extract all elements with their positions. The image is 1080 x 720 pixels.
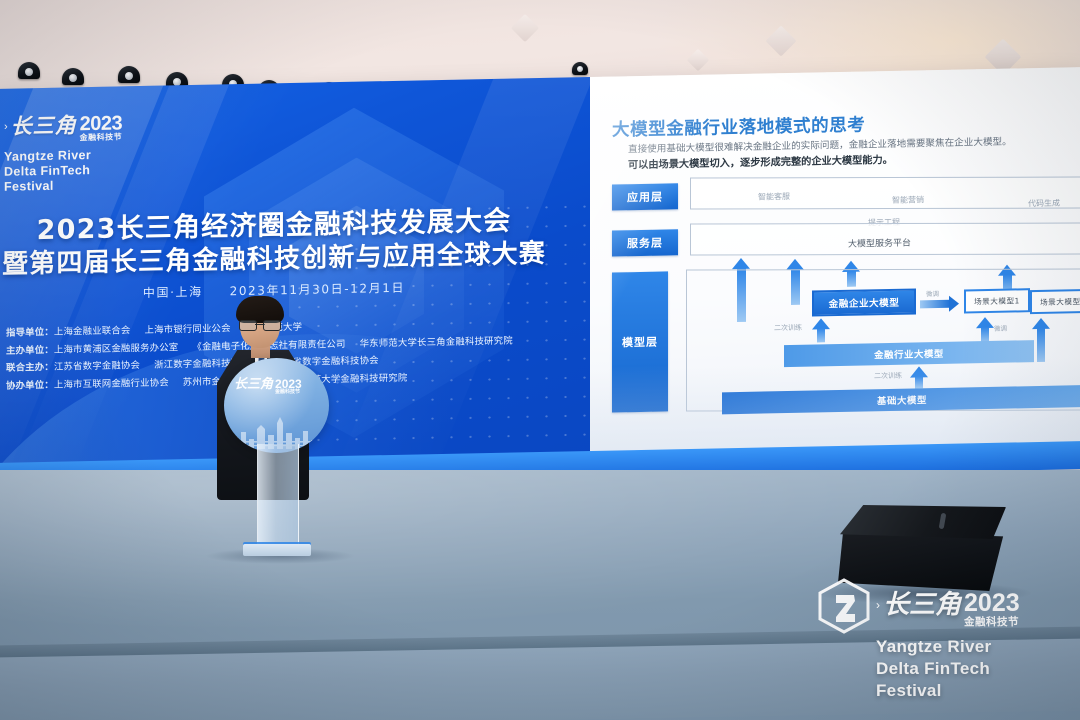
ceiling-sensor-icon — [572, 62, 588, 75]
layer-tag-service: 服务层 — [612, 229, 678, 256]
watermark-arrow-icon: › — [876, 592, 880, 618]
logo-arrow-icon: › — [4, 117, 8, 138]
app-item-label: 代码生成 — [1028, 198, 1060, 210]
watermark-text: › 长三角 2023 金融科技节 Yangtze River Delta Fin… — [876, 592, 1076, 702]
watermark-cn-sub: 金融科技节 — [964, 616, 1020, 630]
sponsor-value: 上海金融业联合会 — [54, 325, 131, 338]
monitor-top-face — [840, 505, 1006, 539]
layer-tag-application: 应用层 — [612, 183, 678, 210]
annotation-retrain: 二次训练 — [774, 323, 802, 334]
festival-mark-icon — [816, 578, 872, 634]
sponsor-value: 江苏省数字金融协会 — [54, 360, 140, 373]
podium-logo-cn: 长三角 — [234, 378, 273, 391]
stage-light-icon — [118, 66, 140, 83]
ceiling-diamond-panel — [511, 14, 539, 42]
up-arrow-shaft — [817, 328, 825, 342]
podium-logo: 长三角 2023 金融科技节 — [234, 378, 320, 396]
chip-enterprise-model: 金融企业大模型 — [812, 288, 916, 316]
watermark-en-line3: Festival — [876, 680, 1076, 702]
led-video-wall: › 长三角 2023 金融科技节 Yangtze River Delta Fin… — [0, 67, 1080, 481]
watermark-cn-name: 长三角 — [883, 592, 961, 618]
watermark-year: 2023 — [964, 592, 1020, 616]
sponsor-key: 协办单位： — [6, 380, 54, 392]
logo-cn-name: 长三角 — [11, 115, 77, 137]
conference-title: 2023长三角经济圈金融科技发展大会 暨第四届长三角金融科技创新与应用全球大赛 — [0, 204, 554, 282]
chip-scenario-model-2: 场景大模型2 — [1030, 289, 1080, 314]
photo-watermark: › 长三角 2023 金融科技节 Yangtze River Delta Fin… — [816, 578, 1076, 714]
right-arrow-icon — [920, 300, 950, 309]
layer-tag-model: 模型层 — [612, 271, 668, 412]
speaker-podium: 长三角 2023 金融科技节 — [224, 358, 329, 558]
annotation-retrain-2: 二次训练 — [874, 371, 902, 382]
annotation-tune: 微调 — [926, 288, 939, 298]
annotation-tune-2: 微调 — [994, 323, 1007, 333]
conference-location: 中国·上海 — [143, 285, 203, 300]
application-layer-box — [690, 177, 1080, 210]
sponsor-key: 指导单位： — [6, 327, 54, 339]
service-platform-label: 大模型服务平台 — [848, 236, 911, 250]
slide-title: 大模型金融行业落地模式的思考 — [612, 111, 865, 141]
conference-stage-photo: › 长三角 2023 金融科技节 Yangtze River Delta Fin… — [0, 0, 1080, 720]
chip-scenario-model-1: 场景大模型1 — [964, 288, 1030, 313]
festival-logo: › 长三角 2023 金融科技节 Yangtze River Delta Fin… — [4, 113, 174, 195]
up-arrow-shaft — [915, 376, 923, 388]
stage-light-icon — [62, 68, 84, 85]
presentation-slide: 大模型金融行业落地模式的思考 直接使用基础大模型很难解决金融企业的实际问题，金融… — [590, 67, 1080, 469]
app-item-label: 智能营销 — [892, 194, 924, 206]
sponsor-key: 主办单位： — [6, 344, 54, 356]
monitor-handle-slot — [939, 513, 947, 530]
app-item-label: 智能客服 — [758, 191, 790, 203]
eyeglasses-icon — [239, 320, 281, 329]
podium-base — [243, 544, 311, 556]
logo-year: 2023 — [80, 114, 123, 134]
podium-stem — [257, 444, 299, 552]
podium-round-panel: 长三角 2023 金融科技节 — [224, 358, 329, 453]
sponsor-value: 上海市互联网金融行业协会 — [54, 377, 169, 390]
podium-logo-sub: 金融科技节 — [275, 390, 302, 396]
watermark-en-line2: Delta FinTech — [876, 658, 1076, 680]
speaker-hair — [236, 296, 284, 323]
sponsor-value: 华东师范大学长三角金融科技研究院 — [360, 335, 513, 349]
watermark-en-line1: Yangtze River — [876, 636, 1076, 658]
sponsor-key: 联合主办： — [6, 362, 54, 374]
up-arrow-shaft — [1037, 328, 1045, 362]
sponsor-value: 上海市黄浦区金融服务办公室 — [54, 342, 178, 355]
stage-light-icon — [18, 62, 40, 79]
logo-cn-sub: 金融科技节 — [80, 133, 123, 143]
